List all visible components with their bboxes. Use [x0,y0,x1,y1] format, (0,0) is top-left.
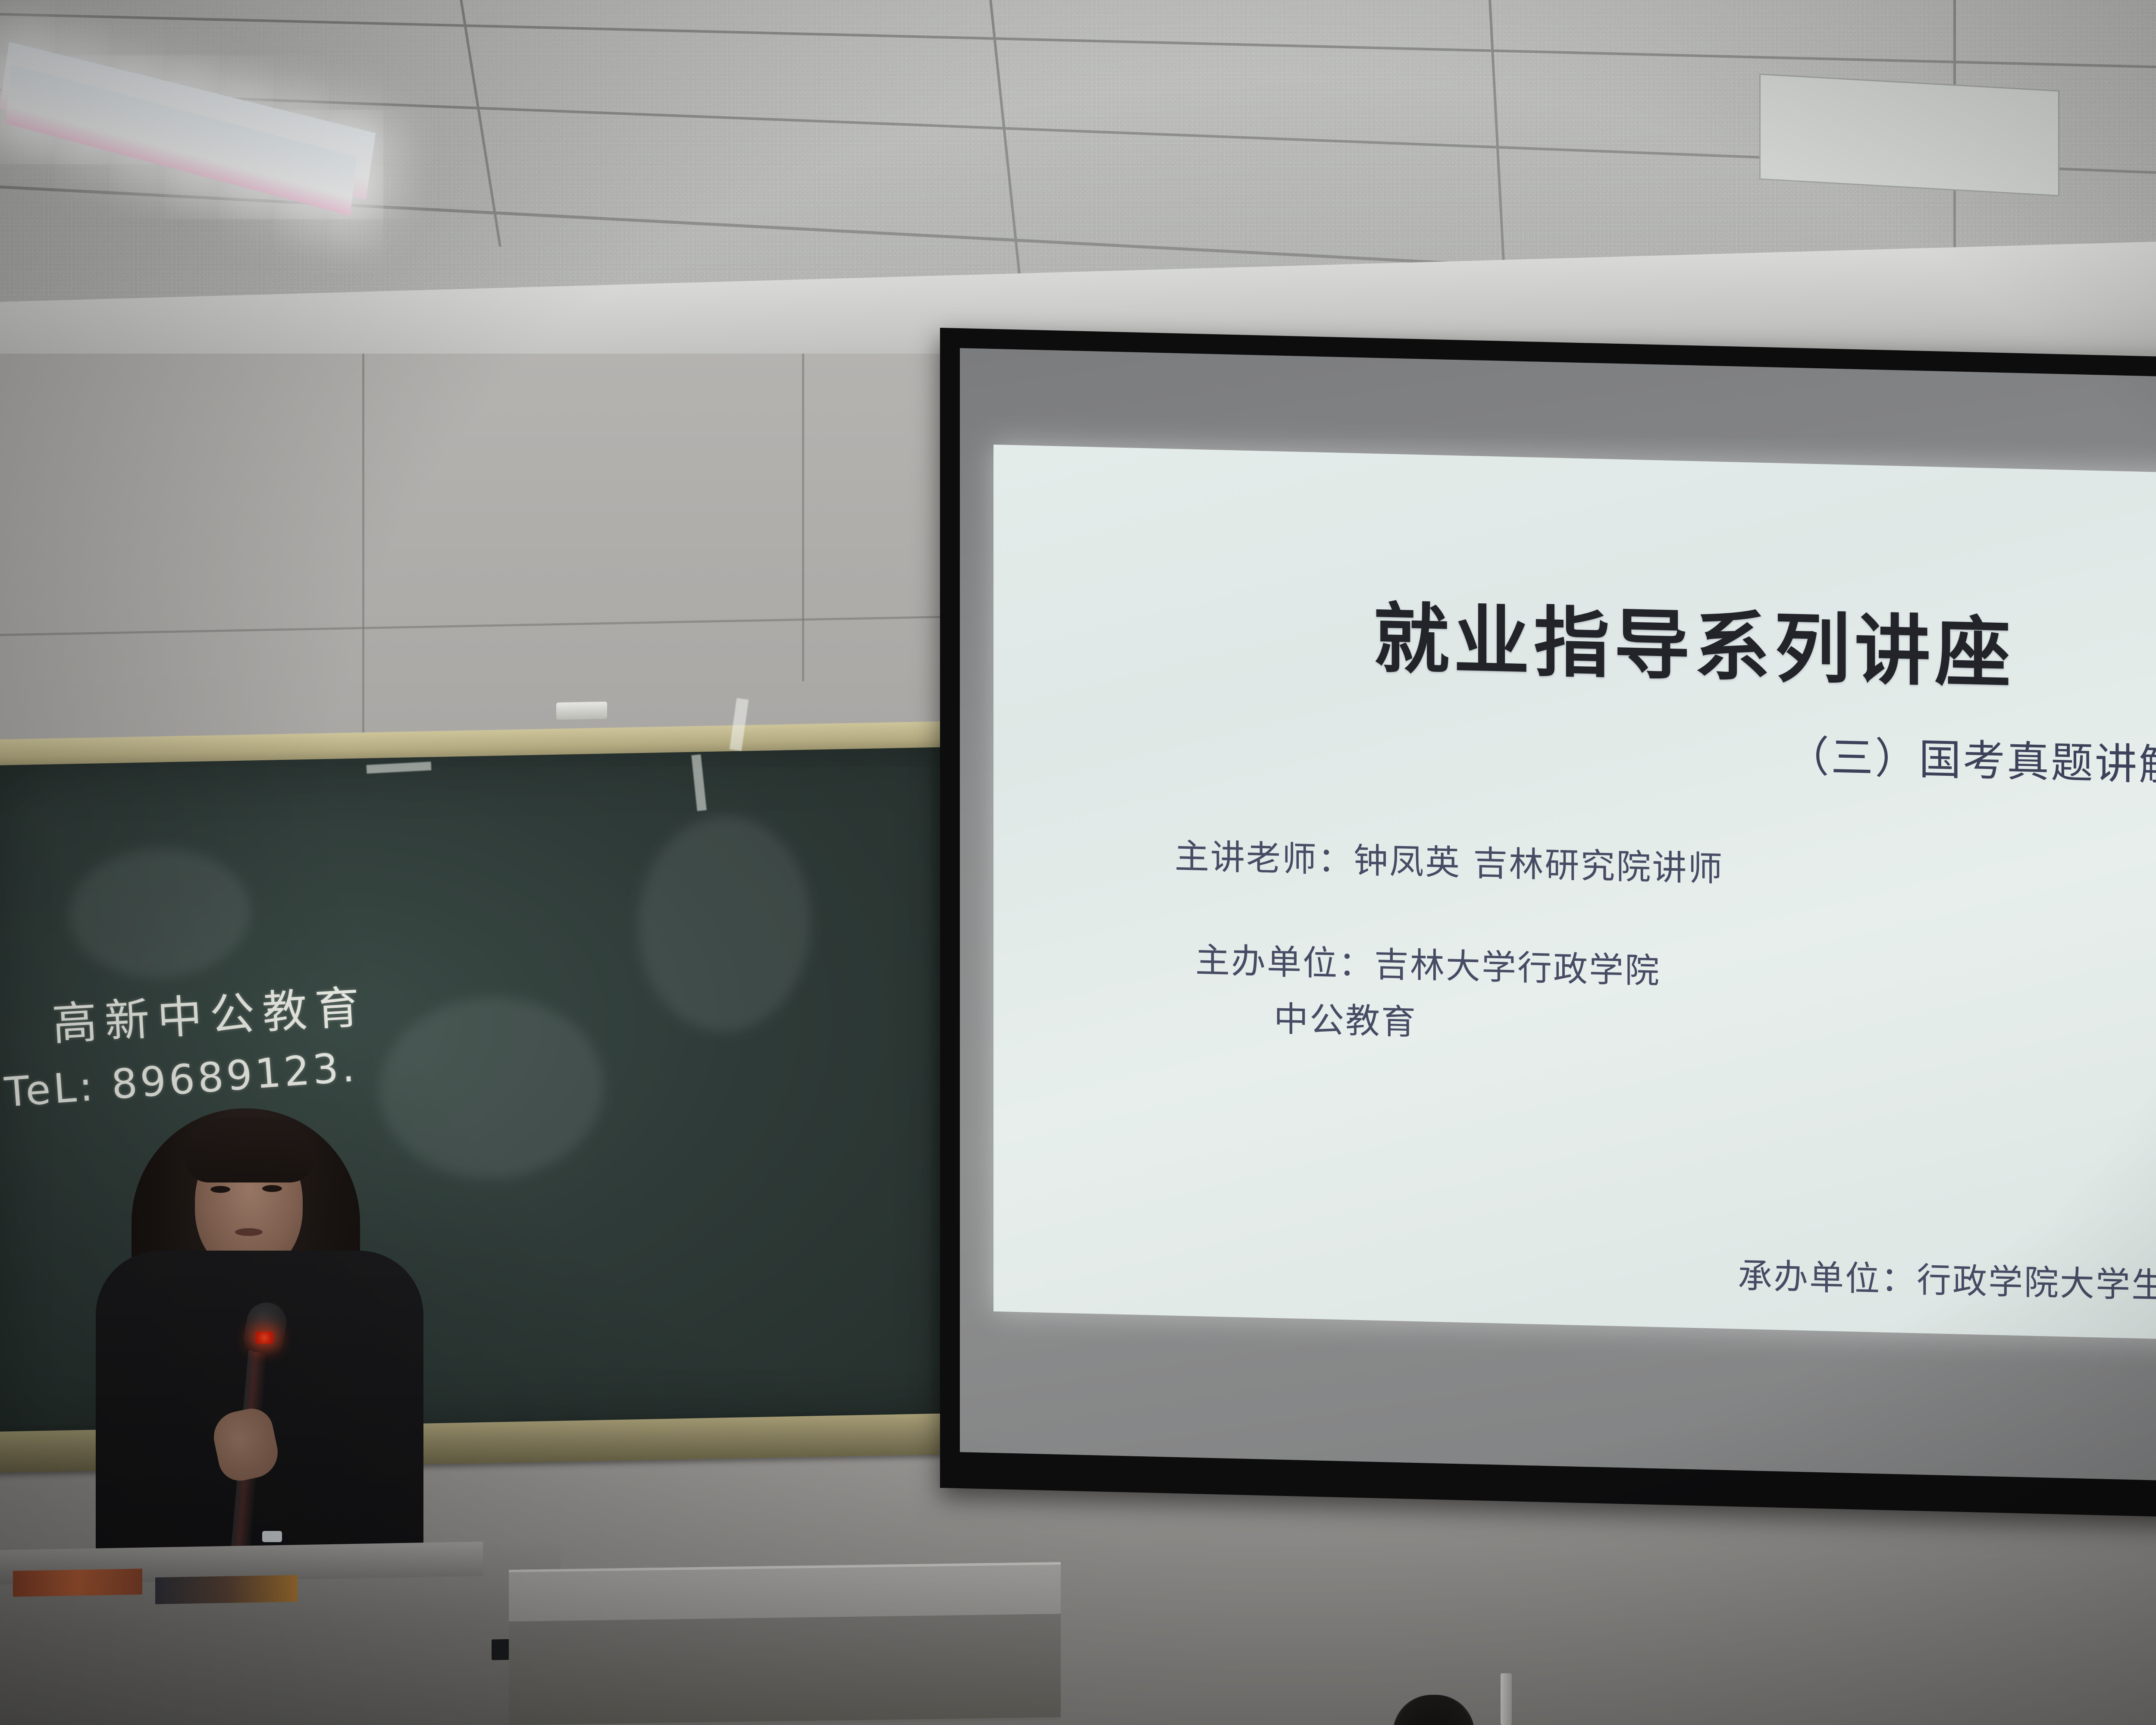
lecture-hall-scene: 高新中公教育 TeL: 89689123. [0,0,2156,1725]
slide-host-line-1: 主办单位：吉林大学行政学院 [1195,932,1661,993]
presenter-eye-right [262,1185,282,1192]
screen-frame: 公为千天 就业指导系列讲座 （三）国考真题讲解之申论 主讲老师：钟凤英 吉林研究… [940,328,2156,1523]
presenter-fringe [185,1118,314,1182]
presenter-wristband [262,1531,282,1542]
slide-title: 就业指导系列讲座 [993,568,2156,711]
slide-support-line: 承办单位：行政学院大学生发展指导中心 [1738,1248,2156,1313]
slide-subtitle: （三）国考真题讲解之申论 [1787,722,2156,796]
projection-screen-assembly: 公为千天 就业指导系列讲座 （三）国考真题讲解之申论 主讲老师：钟凤英 吉林研究… [940,328,2156,1535]
ceiling-light-panel-off [1759,74,2059,197]
shelf-item [13,1568,142,1596]
chalk-smudge [69,847,250,979]
microphone-led-indicator [255,1332,273,1344]
presenter-mouth [235,1228,263,1236]
cabinet-handle[interactable] [1501,1673,1512,1725]
wall-seam-vertical [362,354,364,742]
chalk-smudge [638,815,811,1034]
side-desk-front [509,1614,1061,1725]
slide-host-line-2: 中公教育 [1274,991,1417,1044]
presentation-slide: 公为千天 就业指导系列讲座 （三）国考真题讲解之申论 主讲老师：钟凤英 吉林研究… [993,445,2156,1345]
wall-seam-vertical [802,354,804,681]
shelf-item [155,1575,298,1604]
wall-seam-horizontal [0,615,966,636]
chalk-eraser [556,702,607,720]
slide-speaker-line: 主讲老师：钟凤英 吉林研究院讲师 [1175,828,1724,891]
presenter-eye-left [210,1186,230,1193]
suspended-ceiling [0,0,2156,362]
screen-surface: 公为千天 就业指导系列讲座 （三）国考真题讲解之申论 主讲老师：钟凤英 吉林研究… [960,348,2156,1487]
